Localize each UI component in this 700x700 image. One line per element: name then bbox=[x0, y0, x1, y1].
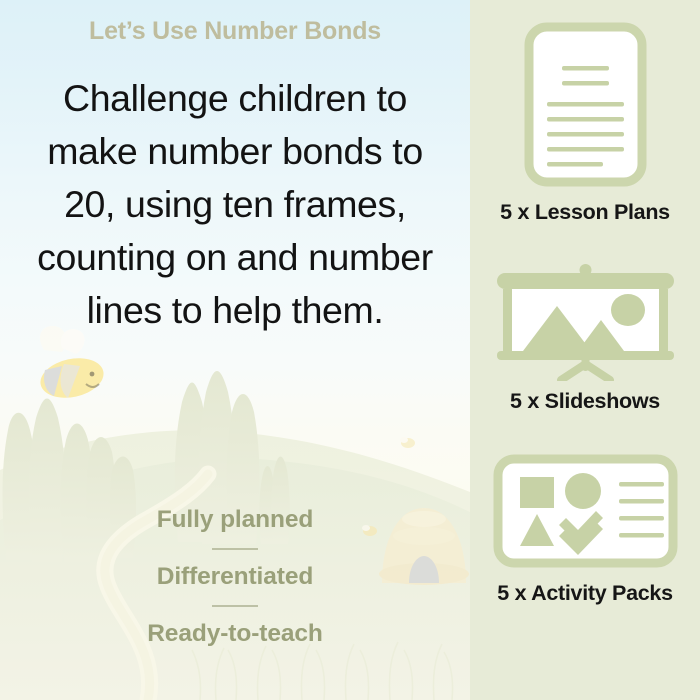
promo-graphic: Let’s Use Number Bonds Challenge childre… bbox=[0, 0, 700, 700]
feature-divider bbox=[212, 605, 258, 607]
asset-item-lesson-plans: 5 x Lesson Plans bbox=[470, 22, 700, 225]
feature-item-ready-to-teach: Ready-to-teach bbox=[147, 619, 323, 649]
asset-label-lesson-plans: 5 x Lesson Plans bbox=[500, 200, 670, 225]
asset-item-activity-packs: 5 x Activity Packs bbox=[470, 454, 700, 606]
asset-label-activity-packs: 5 x Activity Packs bbox=[497, 581, 672, 606]
left-panel: Let’s Use Number Bonds Challenge childre… bbox=[0, 0, 470, 700]
feature-item-differentiated: Differentiated bbox=[157, 562, 314, 592]
feature-item-fully-planned: Fully planned bbox=[157, 505, 314, 535]
presentation-screen-icon bbox=[493, 263, 678, 381]
asset-item-slideshows: 5 x Slideshows bbox=[470, 263, 700, 414]
feature-list: Fully planned Differentiated Ready-to-te… bbox=[0, 505, 470, 649]
assets-panel: 5 x Lesson Plans 5 x Slideshows bbox=[470, 0, 700, 700]
document-icon bbox=[524, 22, 647, 187]
description-text: Challenge children to make number bonds … bbox=[20, 72, 450, 337]
feature-divider bbox=[212, 548, 258, 550]
page-title: Let’s Use Number Bonds bbox=[89, 17, 381, 46]
asset-label-slideshows: 5 x Slideshows bbox=[510, 389, 660, 414]
activity-pack-icon bbox=[493, 454, 678, 568]
